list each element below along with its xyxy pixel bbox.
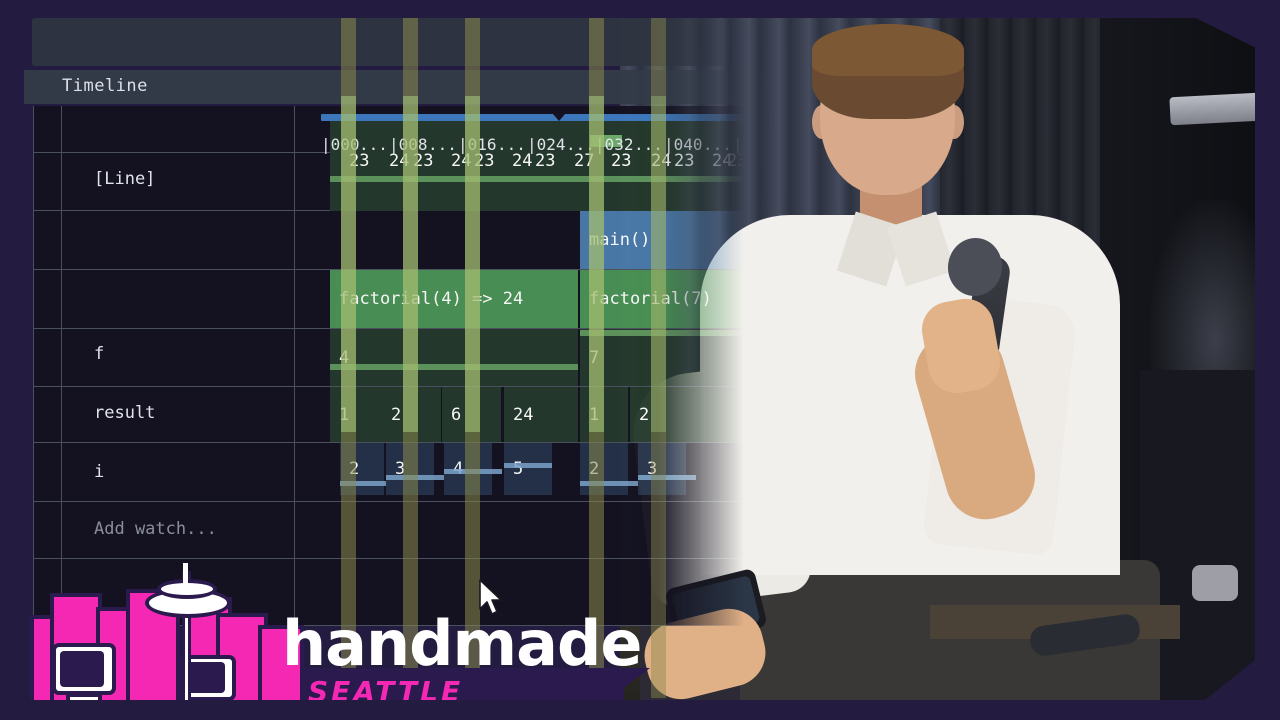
frame-right	[1255, 0, 1280, 720]
crt-screen	[185, 662, 225, 693]
mouse-cursor	[478, 578, 504, 616]
ruler-tick: ...	[428, 135, 457, 154]
ruler-tick: |040	[664, 135, 703, 154]
row-label-f[interactable]: f	[94, 344, 104, 364]
timeline-column-highlight-bright	[589, 96, 604, 432]
i-value-cell[interactable]: 2	[580, 443, 628, 495]
wristwatch	[1192, 565, 1238, 601]
i-sparkline	[638, 475, 696, 480]
row-label-i[interactable]: i	[94, 462, 104, 482]
seattle-skyline-graphic	[30, 563, 310, 673]
frame-bottom	[0, 700, 1280, 720]
screenshot-root: Timeline [Line] f result i Add watch...	[0, 0, 1280, 720]
frame-top	[0, 0, 1280, 18]
ruler-tick: ...	[359, 135, 388, 154]
crt-screen	[60, 651, 104, 687]
timeline-column-highlight-bright	[341, 96, 356, 432]
speaker-hair-highlight	[812, 24, 964, 76]
logo-wordmark: handmade	[282, 613, 641, 675]
result-value-cell[interactable]: 1	[330, 387, 389, 442]
timeline-horizontal-scrollbar[interactable]	[321, 114, 745, 122]
result-value-cell[interactable]: 1	[580, 387, 628, 442]
i-sparkline	[504, 463, 552, 468]
f-value-cell[interactable]: 4	[330, 329, 578, 386]
space-needle-spire	[183, 563, 188, 589]
result-value-cell[interactable]: 2	[630, 387, 746, 442]
result-value-cell[interactable]: 24	[504, 387, 578, 442]
timeline-column-highlight-bright	[403, 96, 418, 432]
callstack-block-factorial4[interactable]: factorial(4) => 24	[330, 270, 578, 328]
frame-left	[0, 0, 24, 720]
ruler-tick: ...	[703, 135, 732, 154]
row-label-result[interactable]: result	[94, 403, 155, 423]
page-title: Timeline	[62, 76, 148, 96]
timeline-column-highlight-bright	[651, 96, 666, 432]
line-row-sparkline	[330, 176, 744, 182]
mic-boom	[1169, 93, 1260, 126]
timeline-column-highlight-bright	[465, 96, 480, 432]
f-sparkline	[330, 364, 578, 370]
row-label-line: [Line]	[94, 169, 155, 189]
toolbar[interactable]	[32, 18, 722, 66]
ruler-tick: |024	[527, 135, 566, 154]
scrollbar-thumb[interactable]	[321, 114, 745, 121]
ruler-tick: ...	[497, 135, 526, 154]
i-value-cell[interactable]: 5	[504, 443, 552, 495]
handmade-seattle-logo: handmade SEATTLE	[30, 525, 630, 710]
timeline-ruler[interactable]: |000 ... |008 ... |016 ... |024 ... |032…	[321, 130, 745, 156]
